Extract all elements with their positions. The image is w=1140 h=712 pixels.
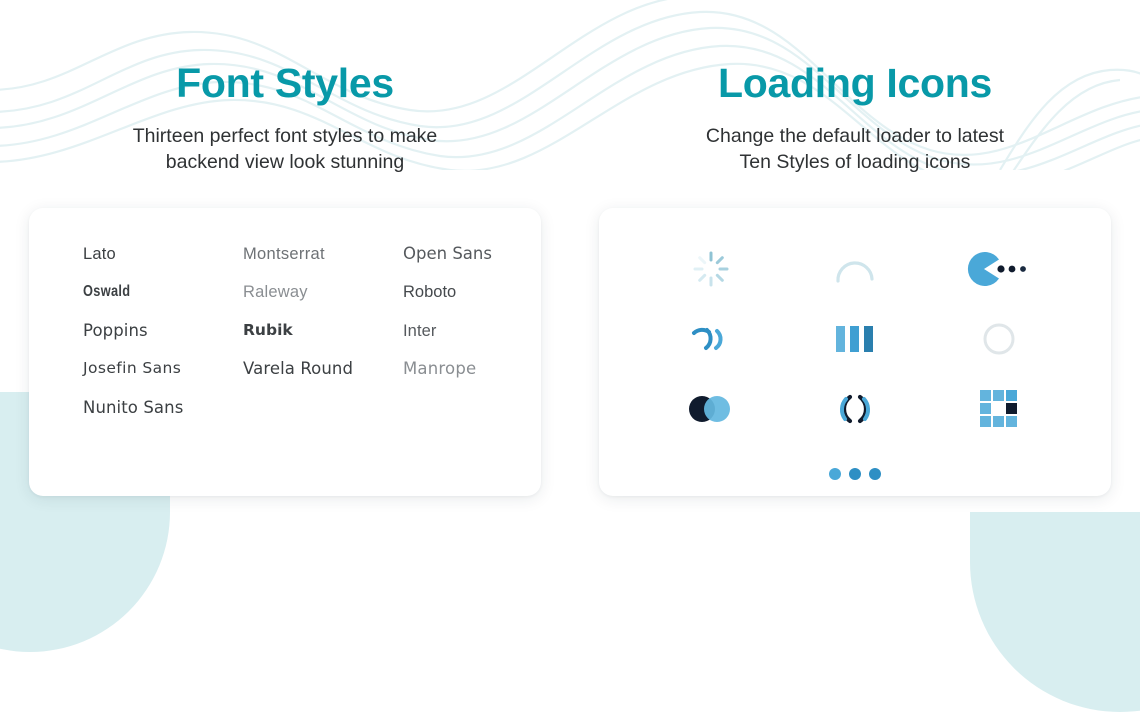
font-item-montserrat[interactable]: Montserrat <box>243 246 403 263</box>
loader-option-broken-ring[interactable] <box>639 304 783 374</box>
loader-option-three-bars[interactable] <box>783 304 927 374</box>
panel-font-styles: Font Styles Thirteen perfect font styles… <box>0 0 570 578</box>
font-styles-card: Lato Montserrat Open Sans Oswald Raleway… <box>29 208 541 496</box>
overlapping-circles-icon <box>684 392 738 426</box>
loader-option-circle-outline[interactable] <box>927 304 1071 374</box>
font-item-rubik[interactable]: Rubik <box>243 323 403 340</box>
font-item-open-sans[interactable]: Open Sans <box>403 246 492 263</box>
panel-subtitle-font-styles: Thirteen perfect font styles to make bac… <box>133 107 438 176</box>
font-item-manrope[interactable]: Manrope <box>403 361 492 378</box>
facing-arcs-icon <box>833 389 877 429</box>
font-list: Lato Montserrat Open Sans Oswald Raleway… <box>83 246 487 417</box>
panel-subtitle-loading-icons: Change the default loader to latest Ten … <box>706 107 1004 176</box>
subtitle-line-1: Thirteen perfect font styles to make <box>133 123 438 149</box>
page-title-loading-icons: Loading Icons <box>718 0 992 107</box>
subtitle-line-1: Change the default loader to latest <box>706 123 1004 149</box>
loader-option-spinner-rays[interactable] <box>639 234 783 304</box>
font-item-raleway[interactable]: Raleway <box>243 284 403 301</box>
font-item-poppins[interactable]: Poppins <box>83 323 243 340</box>
loading-icons-card <box>599 208 1111 496</box>
font-item-roboto[interactable]: Roboto <box>403 284 492 301</box>
subtitle-line-2: backend view look stunning <box>133 149 438 175</box>
loader-option-overlapping-circles[interactable] <box>639 374 783 444</box>
broken-ring-icon <box>687 319 735 359</box>
font-item-varela-round[interactable]: Varela Round <box>243 361 403 378</box>
loader-option-three-dots[interactable] <box>783 444 927 504</box>
three-dots-icon <box>828 466 882 482</box>
loader-list <box>639 234 1071 504</box>
spinner-rays-icon <box>691 249 731 289</box>
subtitle-line-2: Ten Styles of loading icons <box>706 149 1004 175</box>
font-item-josefin-sans[interactable]: Josefin Sans <box>83 361 243 378</box>
arc-top-icon <box>833 248 877 290</box>
circle-outline-icon <box>981 321 1017 357</box>
pacman-dots-icon <box>967 252 1031 286</box>
three-bars-icon <box>834 324 876 354</box>
loader-option-arc-top[interactable] <box>783 234 927 304</box>
grid-squares-icon <box>980 390 1018 428</box>
page-title-font-styles: Font Styles <box>176 0 394 107</box>
loader-option-pacman-dots[interactable] <box>927 234 1071 304</box>
page-root: Font Styles Thirteen perfect font styles… <box>0 0 1140 578</box>
font-item-oswald[interactable]: Oswald <box>83 284 211 301</box>
font-item-inter[interactable]: Inter <box>403 323 492 340</box>
panel-loading-icons: Loading Icons Change the default loader … <box>570 0 1140 578</box>
font-item-lato[interactable]: Lato <box>83 246 243 263</box>
loader-option-grid-squares[interactable] <box>927 374 1071 444</box>
loader-option-facing-arcs[interactable] <box>783 374 927 444</box>
font-item-nunito-sans[interactable]: Nunito Sans <box>83 400 243 417</box>
